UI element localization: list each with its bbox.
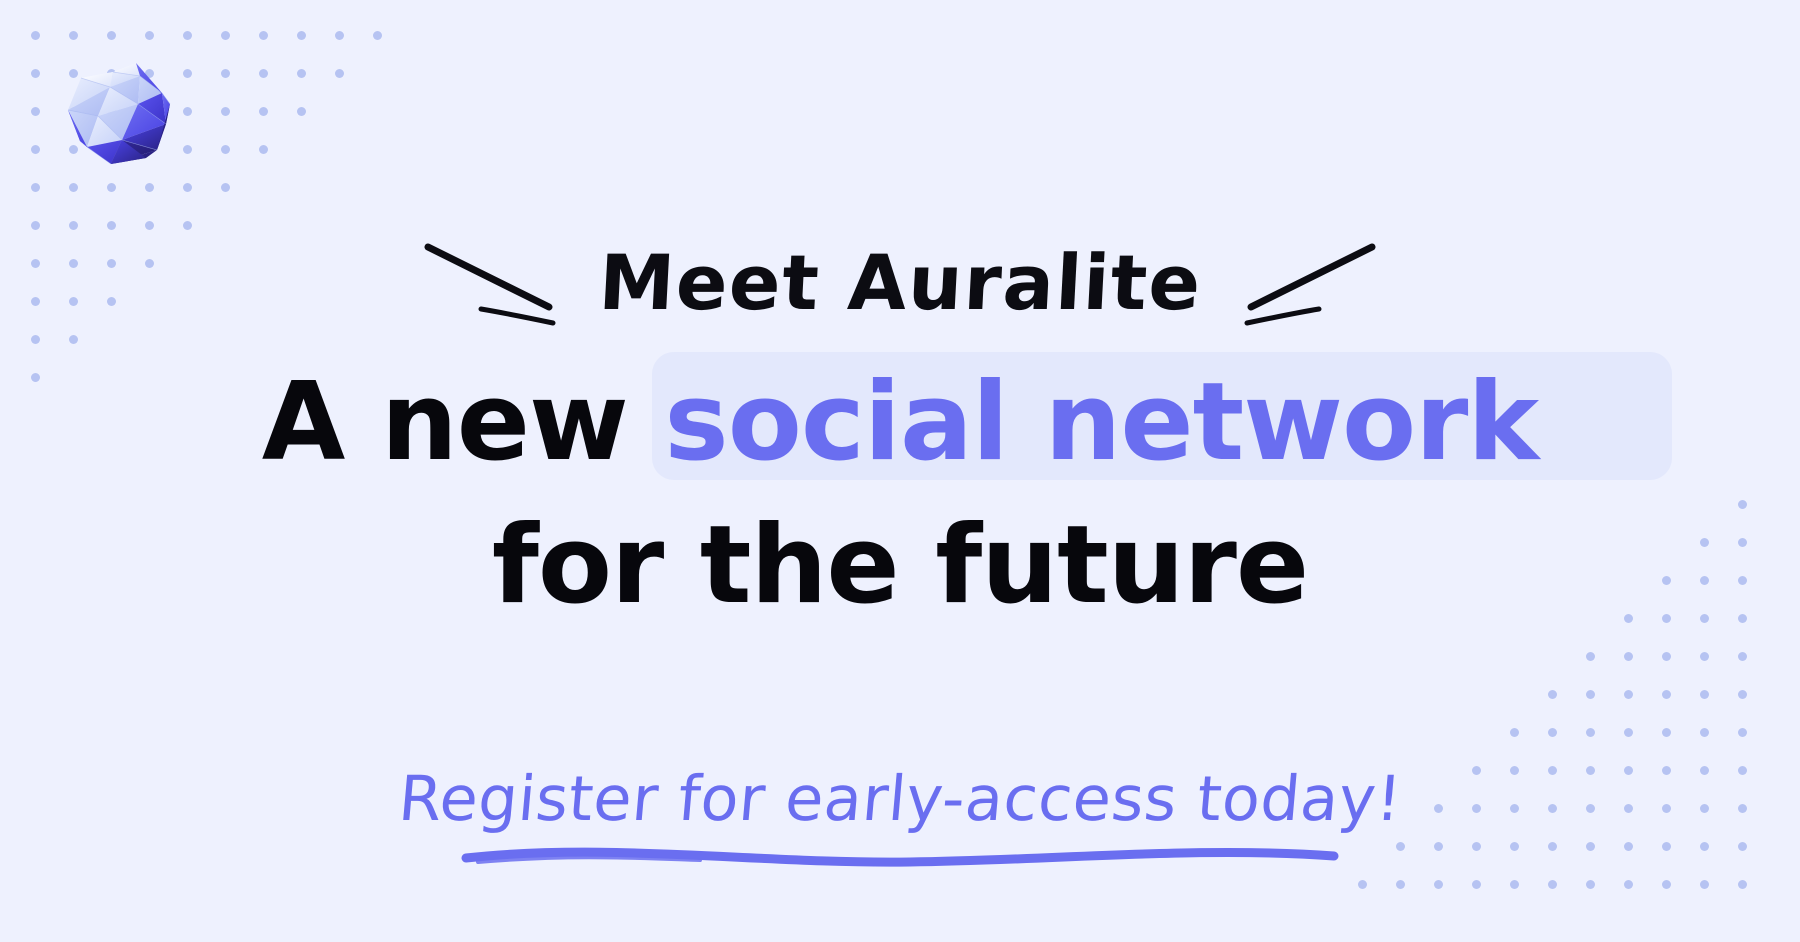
decorative-dot bbox=[1624, 880, 1633, 889]
decorative-dot bbox=[31, 107, 40, 116]
headline: A new social network for the future bbox=[0, 352, 1800, 637]
decorative-dot bbox=[1548, 880, 1557, 889]
decorative-dot bbox=[335, 69, 344, 78]
decorative-dot bbox=[31, 145, 40, 154]
headline-prefix: A new bbox=[262, 360, 665, 485]
decorative-dot bbox=[1396, 880, 1405, 889]
decorative-dot bbox=[221, 183, 230, 192]
decorative-dot bbox=[1548, 690, 1557, 699]
decorative-dot bbox=[1624, 690, 1633, 699]
decorative-dot bbox=[1358, 880, 1367, 889]
sparkle-lines-left-icon bbox=[423, 235, 573, 332]
decorative-dot bbox=[1586, 728, 1595, 737]
decorative-dot bbox=[259, 31, 268, 40]
decorative-dot bbox=[1472, 880, 1481, 889]
headline-line-2: for the future bbox=[0, 495, 1800, 638]
subtitle-text[interactable]: Register for early-access today! bbox=[396, 768, 1404, 830]
decorative-dot bbox=[1624, 728, 1633, 737]
decorative-dot bbox=[1700, 728, 1709, 737]
decorative-dot bbox=[259, 145, 268, 154]
decorative-dot bbox=[1700, 652, 1709, 661]
eyebrow-row: Meet Auralite bbox=[0, 228, 1800, 338]
decorative-dot bbox=[145, 31, 154, 40]
decorative-dot bbox=[221, 145, 230, 154]
auralite-logo-icon[interactable] bbox=[50, 46, 200, 196]
decorative-dot bbox=[183, 31, 192, 40]
sparkle-lines-right-icon bbox=[1227, 235, 1377, 332]
decorative-dot bbox=[259, 69, 268, 78]
decorative-dot bbox=[1510, 728, 1519, 737]
decorative-dot bbox=[1700, 880, 1709, 889]
decorative-dot bbox=[1662, 728, 1671, 737]
decorative-dot bbox=[1586, 652, 1595, 661]
decorative-dot bbox=[31, 69, 40, 78]
decorative-dot bbox=[1738, 690, 1747, 699]
eyebrow-text: Meet Auralite bbox=[597, 245, 1204, 321]
decorative-dot bbox=[1586, 880, 1595, 889]
headline-accent: social network bbox=[664, 360, 1538, 485]
decorative-dot bbox=[1624, 652, 1633, 661]
decorative-dot bbox=[31, 31, 40, 40]
decorative-dot bbox=[373, 31, 382, 40]
subtitle-underline-icon bbox=[460, 836, 1340, 870]
decorative-dot bbox=[297, 31, 306, 40]
hero-banner: Meet Auralite A new social network for t… bbox=[0, 0, 1800, 942]
decorative-dot bbox=[335, 31, 344, 40]
subtitle-block: Register for early-access today! bbox=[0, 768, 1800, 870]
decorative-dot bbox=[1548, 728, 1557, 737]
decorative-dot bbox=[69, 31, 78, 40]
decorative-dot bbox=[1434, 880, 1443, 889]
headline-line-1: A new social network bbox=[0, 352, 1800, 495]
decorative-dot bbox=[297, 69, 306, 78]
decorative-dot bbox=[221, 107, 230, 116]
decorative-dot bbox=[297, 107, 306, 116]
decorative-dot bbox=[1586, 690, 1595, 699]
decorative-dot bbox=[1738, 652, 1747, 661]
decorative-dot bbox=[221, 69, 230, 78]
decorative-dot bbox=[1662, 652, 1671, 661]
decorative-dot bbox=[259, 107, 268, 116]
decorative-dot bbox=[1700, 690, 1709, 699]
decorative-dot bbox=[1662, 690, 1671, 699]
decorative-dot bbox=[1738, 880, 1747, 889]
decorative-dot bbox=[221, 31, 230, 40]
decorative-dot bbox=[1662, 880, 1671, 889]
decorative-dot bbox=[107, 31, 116, 40]
decorative-dot bbox=[1738, 728, 1747, 737]
decorative-dot bbox=[31, 183, 40, 192]
decorative-dot bbox=[1510, 880, 1519, 889]
